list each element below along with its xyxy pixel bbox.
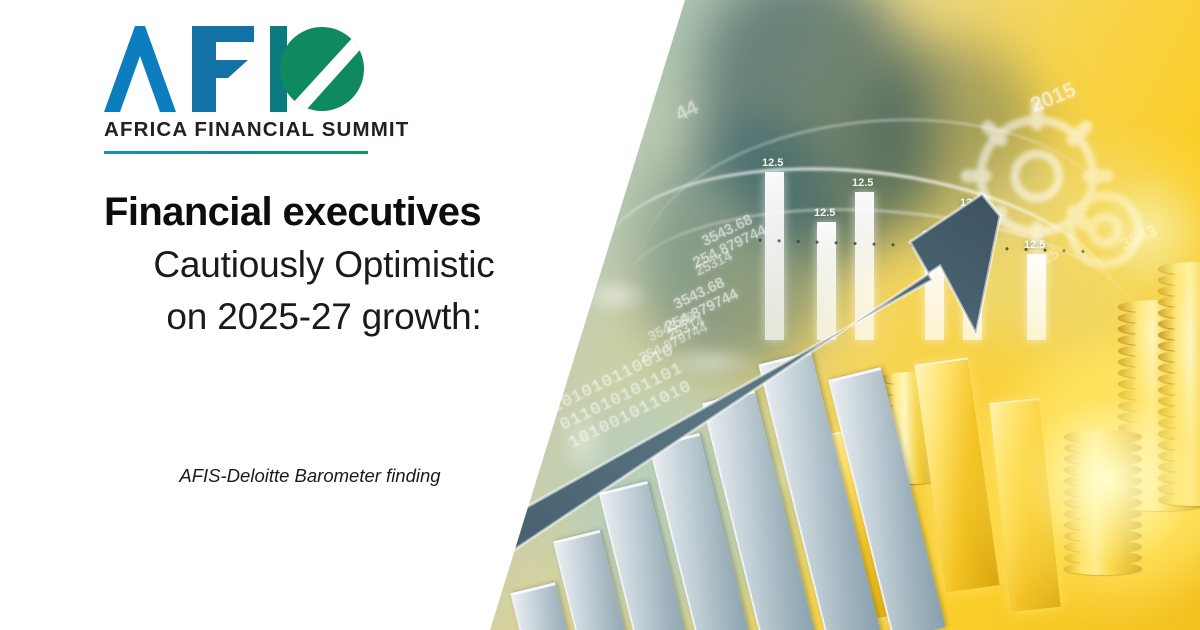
brand-divider	[104, 151, 368, 154]
afis-logomark-icon	[104, 26, 364, 112]
afis-logo[interactable]: AFRICA FINANCIAL SUMMIT	[104, 26, 379, 154]
left-content: AFRICA FINANCIAL SUMMIT Financial execut…	[0, 0, 560, 630]
headline-line-1: Financial executives	[104, 188, 544, 237]
rising-arrow-icon	[470, 120, 1200, 580]
afis-wordmark: AFRICA FINANCIAL SUMMIT	[104, 118, 379, 142]
headline: Financial executives Cautiously Optimist…	[104, 188, 544, 344]
headline-line-3: on 2025-27 growth:	[104, 291, 544, 344]
social-card: 2015 101010110010 011010101101 101001011…	[0, 0, 1200, 630]
source-caption: AFIS-Deloitte Barometer finding	[104, 462, 516, 491]
headline-line-2: Cautiously Optimistic	[104, 239, 544, 292]
